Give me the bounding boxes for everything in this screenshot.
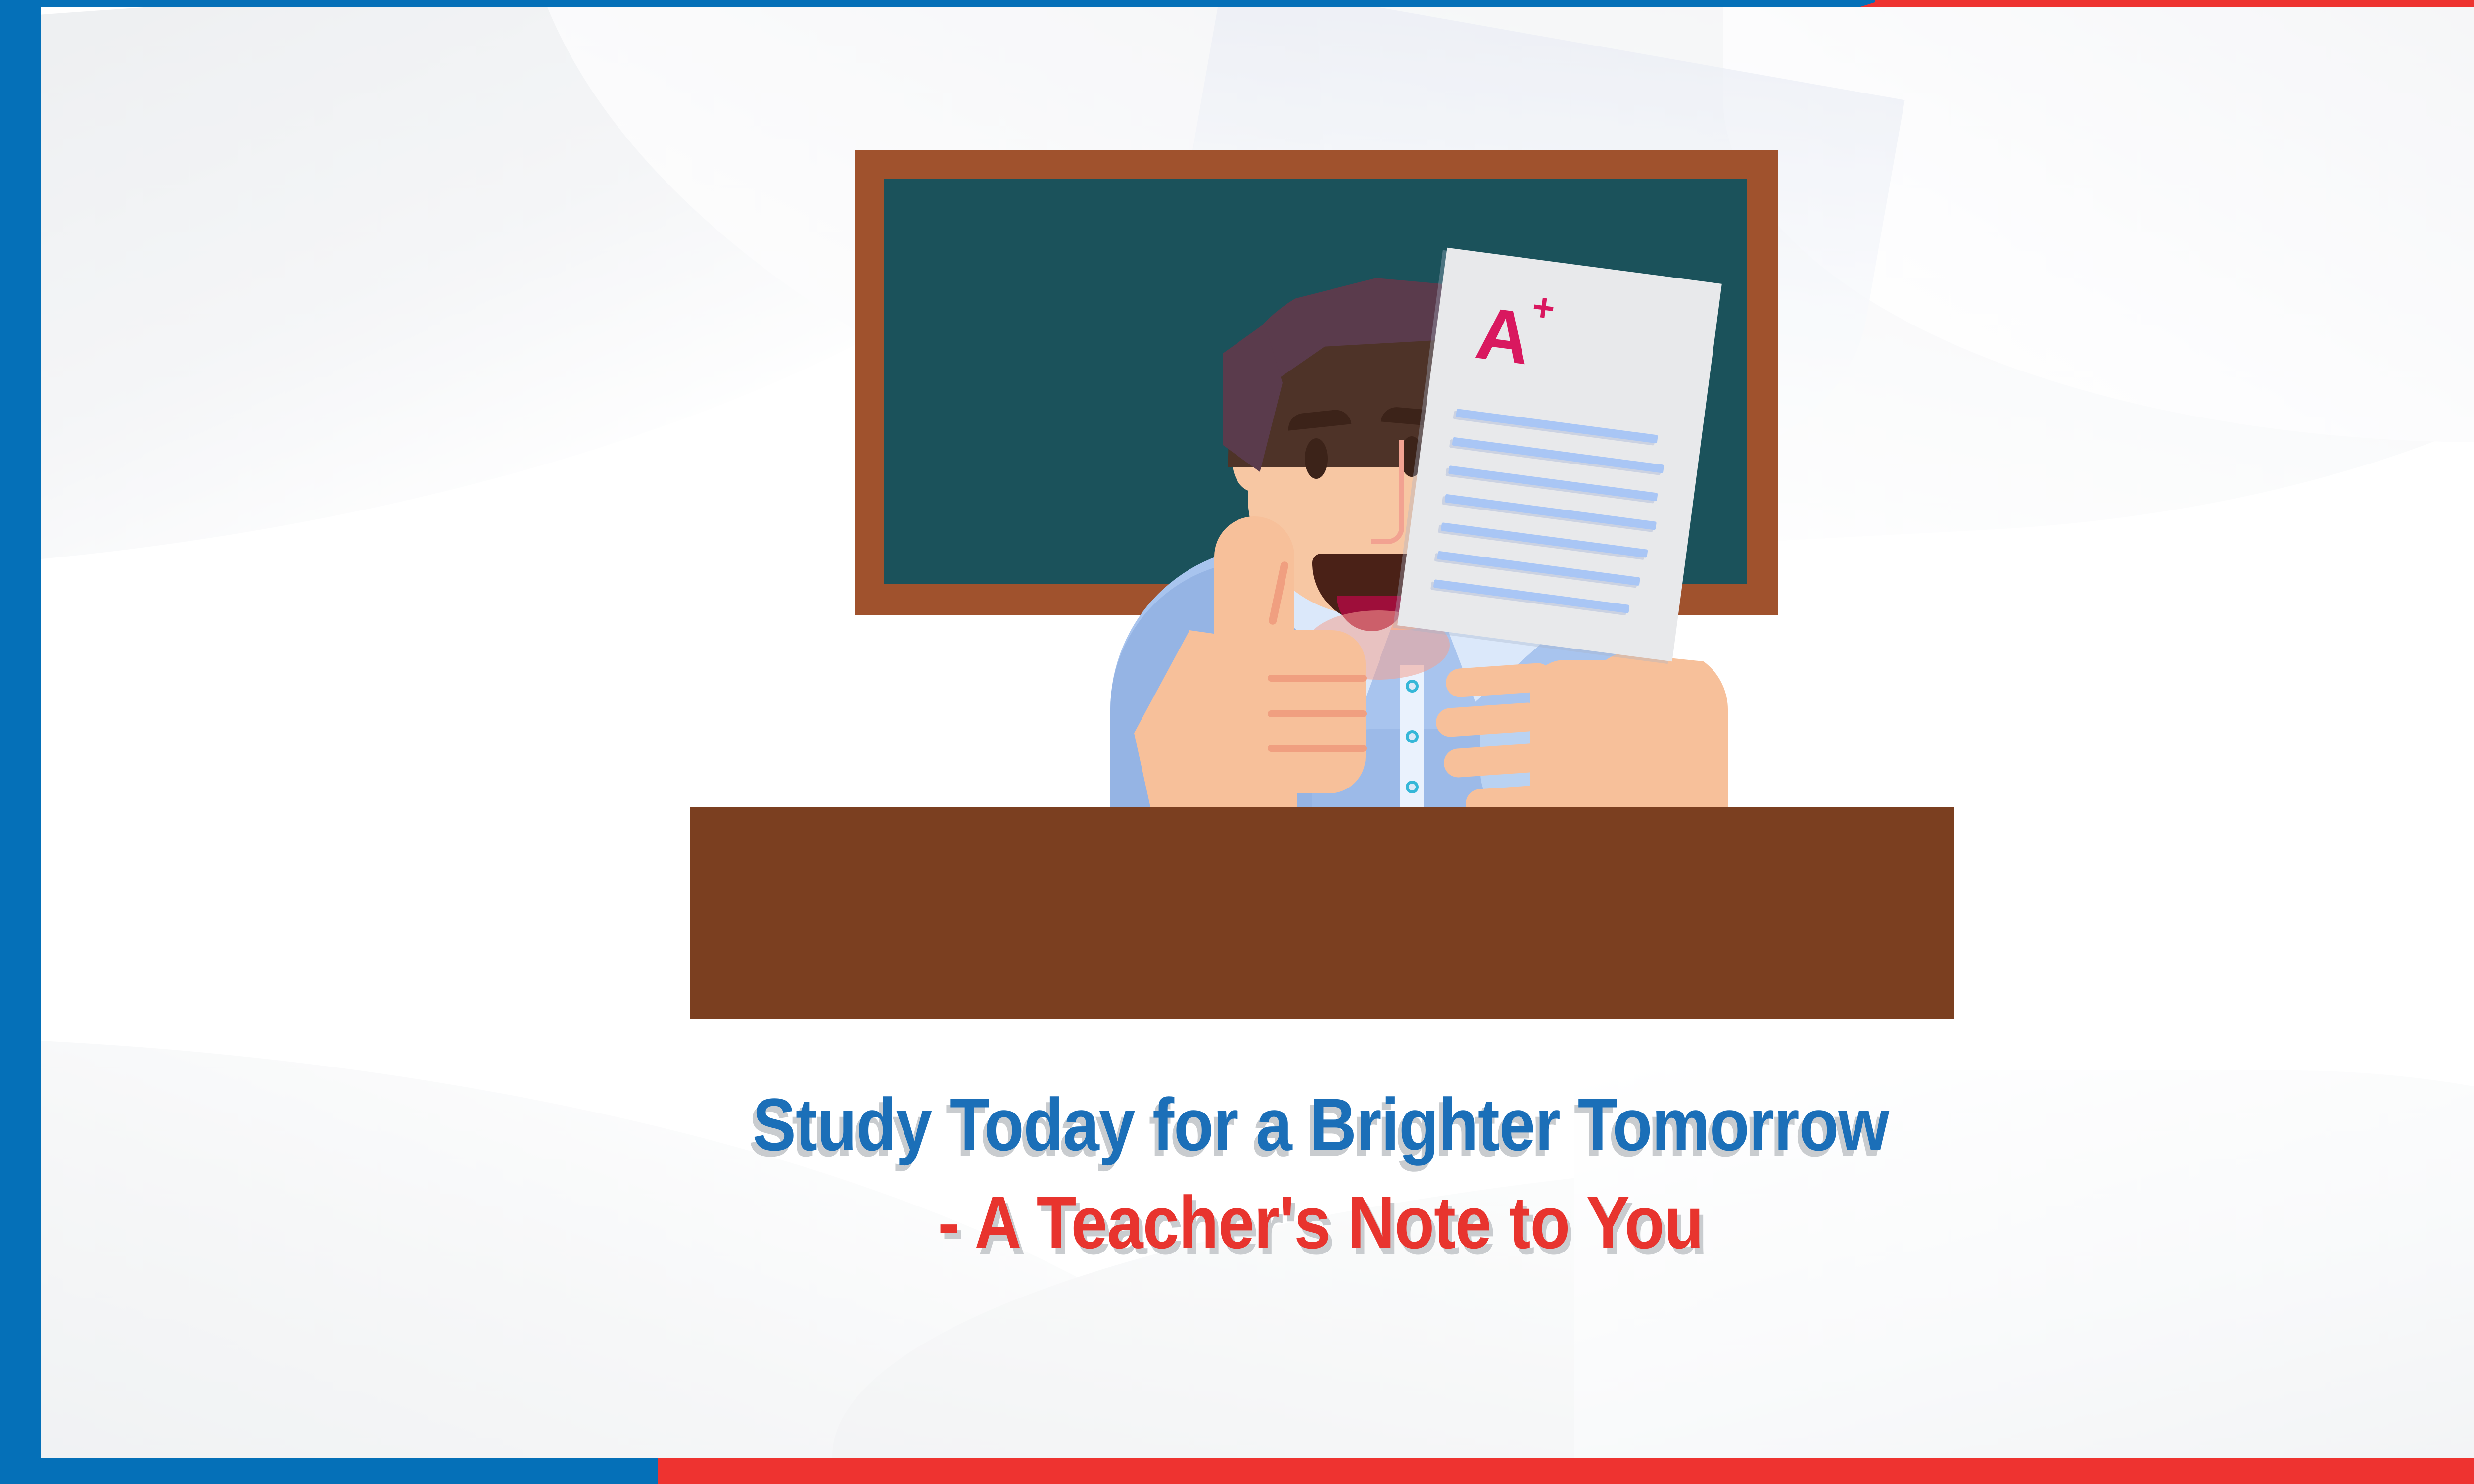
eye-left (1305, 438, 1328, 479)
border-corner-bottom-left (0, 1458, 41, 1484)
graded-paper: A+ (1397, 248, 1722, 662)
shirt-button-2 (1406, 730, 1419, 743)
knuckle-line (1268, 675, 1367, 682)
headline-line-2: - A Teacher's Note to You (194, 1173, 2447, 1271)
border-left-blue (0, 0, 41, 1484)
paper-rule-line (1452, 437, 1665, 473)
paper-rule-line (1437, 551, 1640, 586)
shirt-button-1 (1406, 680, 1419, 693)
poster-background: A+ (41, 7, 2474, 1458)
paper-rule-line (1433, 579, 1630, 613)
grade-label: A+ (1472, 295, 1553, 378)
border-top-red (1875, 0, 2474, 7)
paper-rule-line (1441, 522, 1648, 558)
border-bottom-red (618, 1458, 2474, 1484)
border-bottom-blue (0, 1458, 658, 1484)
shirt-button-3 (1406, 781, 1419, 793)
knuckle-line (1268, 710, 1367, 717)
teacher-desk (690, 807, 1954, 1019)
knuckle-line (1268, 745, 1367, 752)
grade-plus-icon: + (1529, 284, 1556, 330)
headline-line-1: Study Today for a Brighter Tomorrow (194, 1075, 2447, 1173)
paper-rule-line (1448, 465, 1658, 501)
paper-rule-line (1456, 409, 1658, 443)
teacher-illustration: A+ (41, 7, 2474, 1070)
nose (1371, 440, 1404, 544)
poster-canvas: A+ (0, 0, 2474, 1484)
headline-block: Study Today for a Brighter Tomorrow - A … (41, 1075, 2474, 1271)
border-top-blue (0, 0, 1883, 7)
paper-rule-line (1444, 494, 1657, 530)
